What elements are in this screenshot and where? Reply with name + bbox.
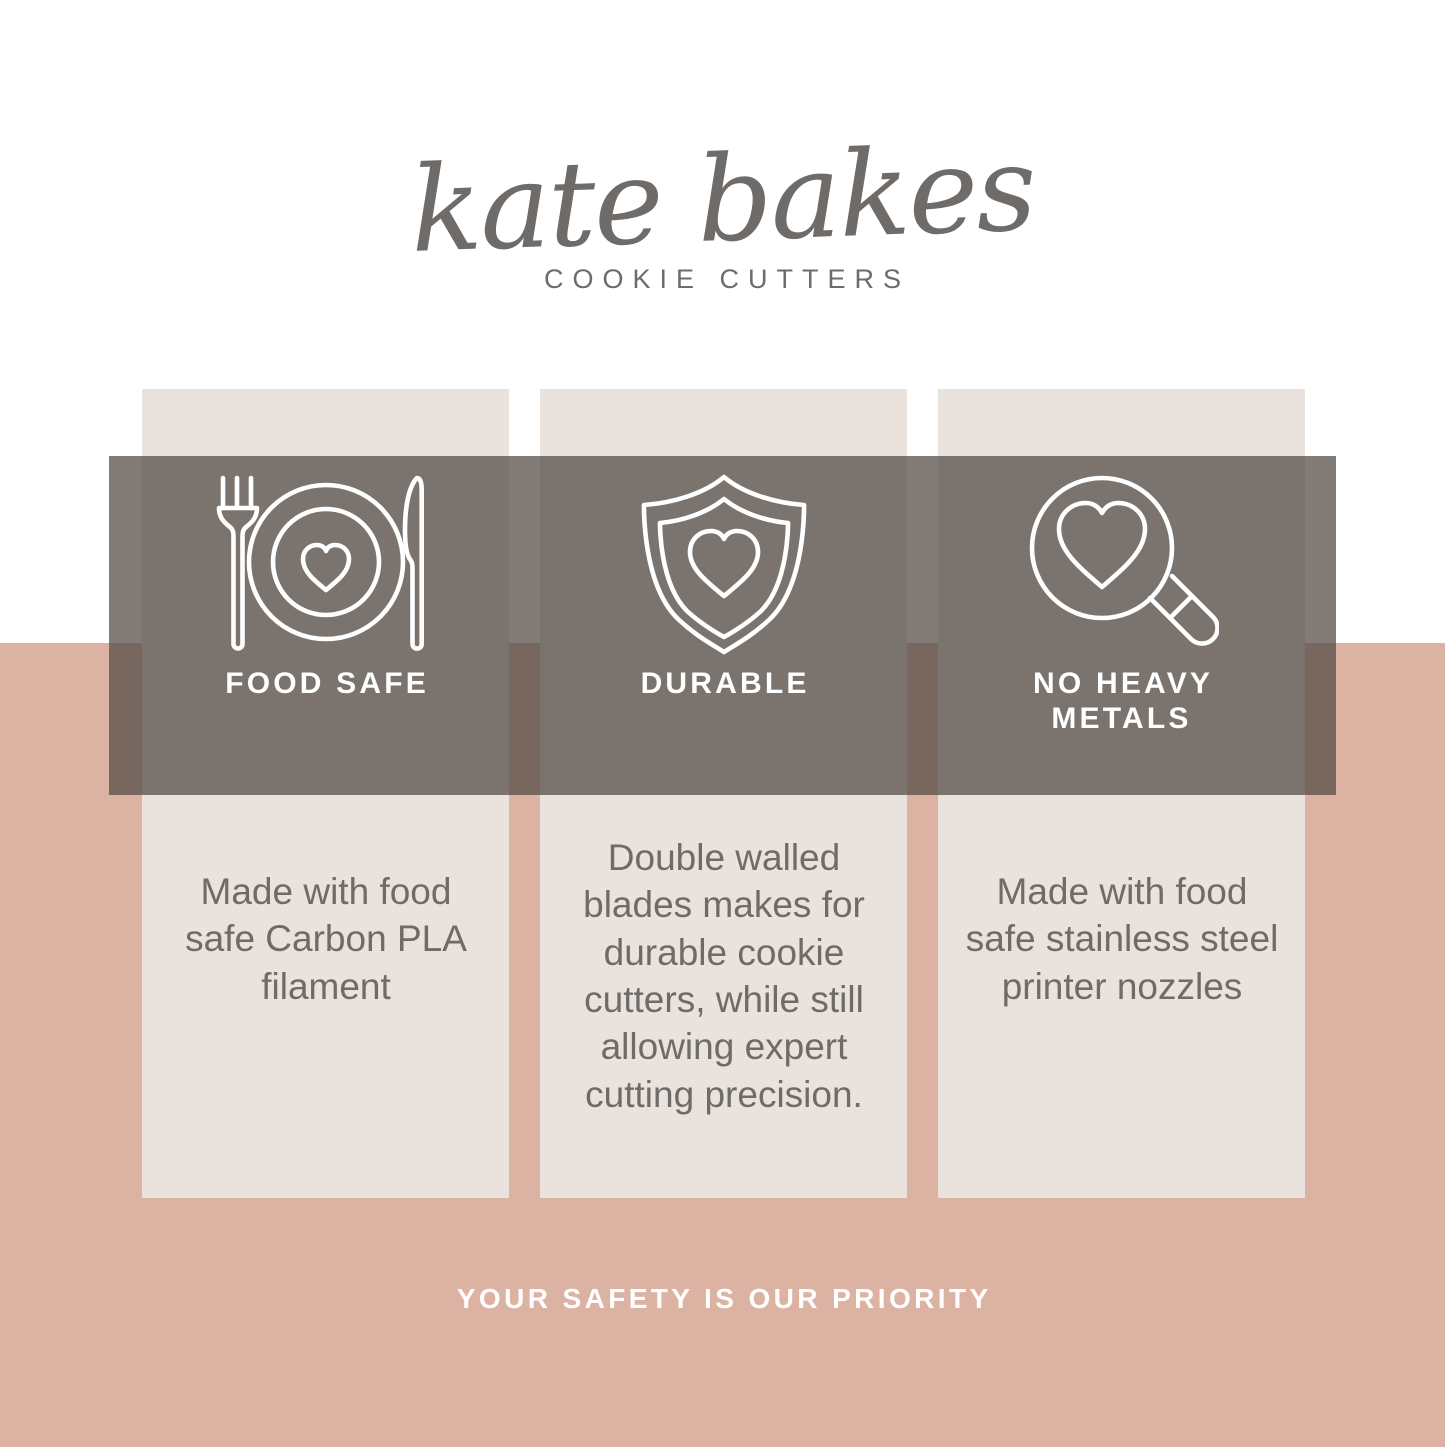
infographic-page: kate bakes COOKIE CUTTERS [0, 0, 1445, 1447]
feature-description: Made with food safe Carbon PLA filament [161, 868, 491, 1010]
feature-block-food-safe: FOOD SAFE [142, 456, 509, 795]
feature-block-no-heavy-metals: NO HEAVY METALS [938, 456, 1305, 795]
plate-fork-knife-heart-icon [142, 456, 509, 666]
feature-description: Made with food safe stainless steel prin… [957, 868, 1287, 1010]
feature-description: Double walled blades makes for durable c… [559, 834, 889, 1118]
shield-heart-icon [540, 456, 907, 666]
feature-label: FOOD SAFE [222, 666, 429, 701]
magnifier-heart-icon [938, 456, 1305, 666]
feature-block-durable: DURABLE [540, 456, 907, 795]
feature-label: NO HEAVY METALS [1030, 666, 1213, 737]
footer-strapline: YOUR SAFETY IS OUR PRIORITY [0, 1283, 1445, 1315]
feature-label: DURABLE [637, 666, 809, 701]
